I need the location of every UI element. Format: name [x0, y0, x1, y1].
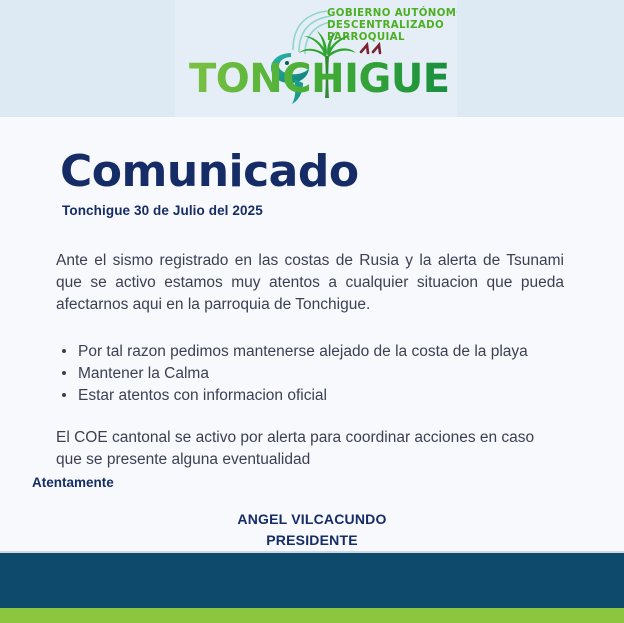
list-item: Mantener la Calma [78, 363, 586, 384]
bullet-dot-icon [62, 393, 66, 397]
footer-navy-band [0, 553, 624, 608]
list-item-label: Por tal razon pedimos mantenerse alejado… [78, 343, 528, 360]
list-item: Por tal razon pedimos mantenerse alejado… [78, 341, 586, 362]
logo-org-line1: GOBIERNO AUTÓNOMO [327, 6, 457, 19]
document-date: Tonchigue 30 de Julio del 2025 [62, 203, 263, 218]
instructions-list: Por tal razon pedimos mantenerse alejado… [56, 341, 586, 407]
body-paragraph: Ante el sismo registrado en las costas d… [56, 250, 564, 316]
signature-block: ANGEL VILCACUNDO PRESIDENTE [0, 511, 624, 548]
regards-label: Atentamente [32, 475, 114, 490]
gad-tonchigue-logo: GOBIERNO AUTÓNOMO DESCENTRALIZADO PARROQ… [175, 0, 457, 117]
logo-wordmark: TONCHIGUE [189, 56, 450, 102]
document-sheet: Comunicado Tonchigue 30 de Julio del 202… [0, 117, 624, 553]
logo-org-line2: DESCENTRALIZADO [327, 20, 444, 31]
comunicado-poster: GOBIERNO AUTÓNOMO DESCENTRALIZADO PARROQ… [0, 0, 624, 623]
footer-green-band [0, 608, 624, 623]
bullet-dot-icon [62, 349, 66, 353]
list-item-label: Mantener la Calma [78, 365, 209, 382]
signature-name: ANGEL VILCACUNDO [0, 511, 624, 527]
closing-paragraph: El COE cantonal se activo por alerta par… [56, 427, 564, 471]
birds-icon [361, 45, 380, 53]
list-item: Estar atentos con informacion oficial [78, 385, 586, 406]
list-item-label: Estar atentos con informacion oficial [78, 387, 327, 404]
signature-role: PRESIDENTE [0, 532, 624, 548]
logo-graphic: GOBIERNO AUTÓNOMO DESCENTRALIZADO PARROQ… [175, 0, 457, 117]
bullet-dot-icon [62, 371, 66, 375]
page-title: Comunicado [60, 150, 359, 194]
